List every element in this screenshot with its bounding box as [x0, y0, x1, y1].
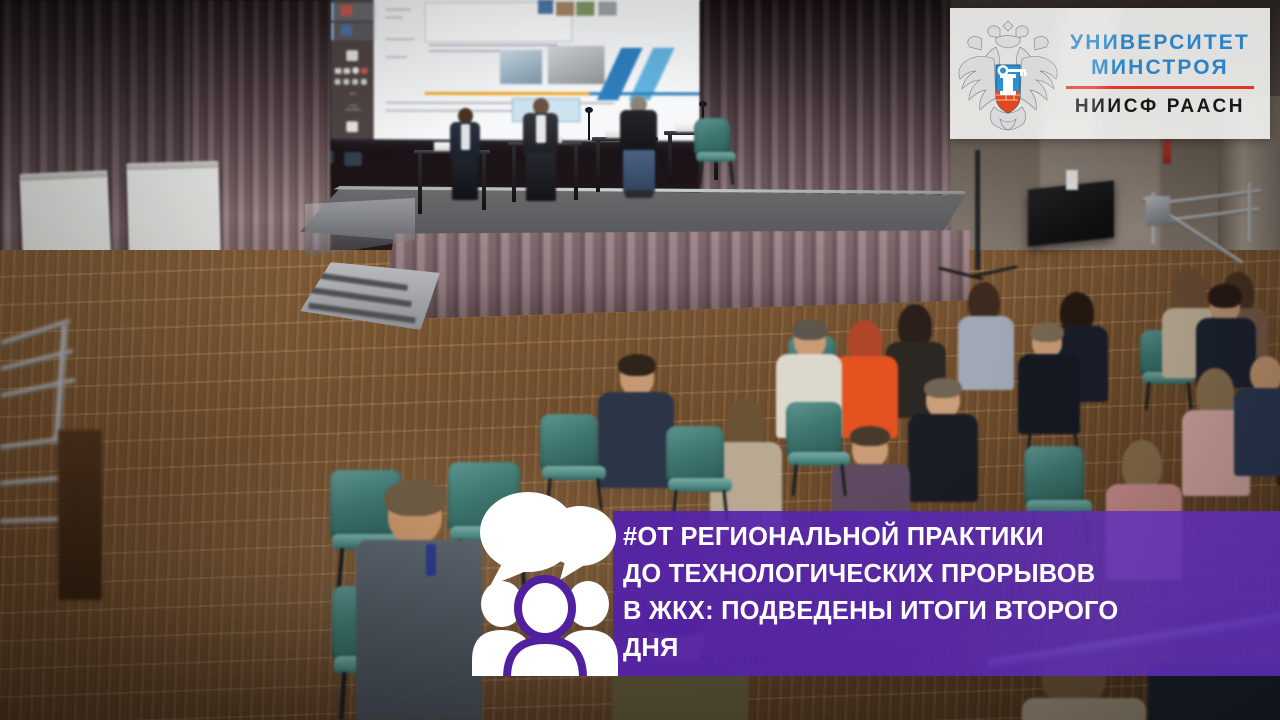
doc-photo — [500, 50, 542, 84]
headline-text: #ОТ РЕГИОНАЛЬНОЙ ПРАКТИКИ ДО ТЕХНОЛОГИЧЕ… — [623, 519, 1276, 667]
headline-banner: #ОТ РЕГИОНАЛЬНОЙ ПРАКТИКИ ДО ТЕХНОЛОГИЧЕ… — [613, 511, 1280, 676]
panel-table-leg — [574, 144, 578, 200]
person-torso — [1022, 698, 1146, 720]
tray-icon — [335, 79, 341, 85]
taskbar-clock: 14:2526/11/2025 — [338, 104, 369, 112]
person-hair — [1208, 284, 1242, 308]
person-torso — [598, 392, 674, 488]
logo-wordmark: УНИВЕРСИТЕТ МИНСТРОЯ НИИСФ РААСН — [1060, 30, 1270, 118]
doc-thumbnail — [598, 1, 616, 15]
wooden-panel — [58, 430, 102, 600]
tray-icon — [361, 68, 368, 74]
notification-icon — [346, 121, 358, 132]
panelist-legs — [452, 158, 478, 200]
person-torso — [958, 316, 1014, 390]
panelist-1 — [446, 108, 484, 206]
stair-rail-post — [1248, 182, 1252, 242]
chair-leg — [338, 672, 346, 720]
taskbar-label: RUS — [338, 92, 369, 96]
microphone-stand — [588, 112, 590, 140]
speaker-stand-pole — [975, 150, 980, 270]
person-hair — [792, 320, 828, 340]
powerpoint-icon — [340, 5, 352, 16]
chair-leg — [596, 478, 602, 510]
taskbar-item — [331, 22, 377, 40]
word-icon — [340, 25, 352, 36]
audience-chair — [786, 402, 852, 496]
panelist-torso — [620, 110, 657, 152]
panel-table-leg — [668, 134, 672, 184]
logo-divider — [1066, 86, 1254, 89]
chair-back — [786, 402, 842, 456]
person-hair — [850, 426, 890, 446]
chair-leg — [791, 464, 797, 496]
panelist-shirt — [461, 124, 470, 150]
chair-back — [666, 426, 724, 482]
doc-thumbnail — [556, 2, 574, 16]
chair-back — [1024, 446, 1084, 504]
chair-leg — [518, 540, 526, 586]
speaker-notice-card — [1066, 170, 1078, 190]
taskbar-active-item — [331, 3, 377, 21]
logo-line-minstroy: МИНСТРОЯ — [1062, 55, 1258, 80]
tray-icon — [343, 79, 349, 85]
panelist-legs — [623, 150, 655, 194]
chair-leg — [545, 478, 551, 510]
ministroy-university-logo: УНИВЕРСИТЕТ МИНСТРОЯ НИИСФ РААСН — [950, 8, 1270, 139]
person-hair — [1030, 322, 1064, 342]
doc-line — [385, 56, 407, 58]
chair-back — [694, 118, 730, 156]
person-lanyard — [426, 544, 436, 576]
windows-taskbar: RUS 14:2526/11/2025 — [331, 0, 374, 139]
stair-structure — [1146, 196, 1170, 226]
chair-back — [540, 414, 598, 470]
panelist-shirt — [536, 115, 546, 143]
tray-icon — [352, 67, 359, 74]
person-torso — [908, 414, 978, 502]
tray-icon — [361, 79, 367, 85]
screen-corner-icon — [344, 152, 362, 166]
tray-icon — [352, 79, 358, 85]
stand-leg — [972, 265, 1018, 277]
audience-chair — [666, 426, 734, 522]
fire-extinguisher-icon — [1163, 140, 1171, 164]
panelist-shoes — [625, 190, 653, 198]
tray-icon — [343, 68, 350, 74]
chair-leg — [840, 464, 846, 496]
tray-icon — [335, 68, 342, 74]
doc-line — [385, 16, 403, 18]
person-hair — [384, 480, 446, 516]
chair-leg — [698, 161, 703, 185]
person-torso — [356, 540, 482, 720]
doc-thumbnail — [538, 0, 553, 14]
logo-line-niisf: НИИСФ РААСН — [1062, 96, 1258, 118]
app-icon — [346, 50, 358, 61]
panel-table-leg — [596, 140, 600, 192]
chair-leg — [729, 161, 734, 185]
chair-back — [448, 462, 520, 530]
stage-chair — [694, 118, 736, 188]
panel-table-leg — [512, 144, 516, 202]
panelist-3 — [618, 96, 660, 200]
doc-thumbnail — [576, 2, 594, 16]
screenshot-root: RUS 14:2526/11/2025 — [0, 0, 1280, 720]
flipchart-header — [126, 161, 218, 170]
panelist-2 — [520, 98, 562, 204]
chair-leg — [1145, 382, 1151, 410]
doc-line — [385, 38, 414, 40]
doc-line — [429, 44, 558, 46]
person-head — [1250, 356, 1280, 392]
person-torso — [1018, 354, 1080, 434]
panel-table-leg — [418, 152, 422, 214]
audience-chair — [540, 414, 608, 510]
chair-leg — [1187, 382, 1193, 410]
doc-line — [385, 8, 411, 10]
loudspeaker-cabinet — [1028, 180, 1114, 246]
person-torso — [1234, 388, 1280, 476]
person-hair — [1122, 440, 1162, 490]
person-hair — [618, 354, 656, 376]
person-hair — [924, 378, 962, 398]
logo-line-university: УНИВЕРСИТЕТ — [1062, 30, 1258, 55]
slide-accent-bar — [425, 92, 701, 96]
russian-double-headed-eagle-emblem — [956, 15, 1060, 133]
person-hair — [1196, 368, 1234, 416]
panelist-legs — [526, 153, 556, 201]
